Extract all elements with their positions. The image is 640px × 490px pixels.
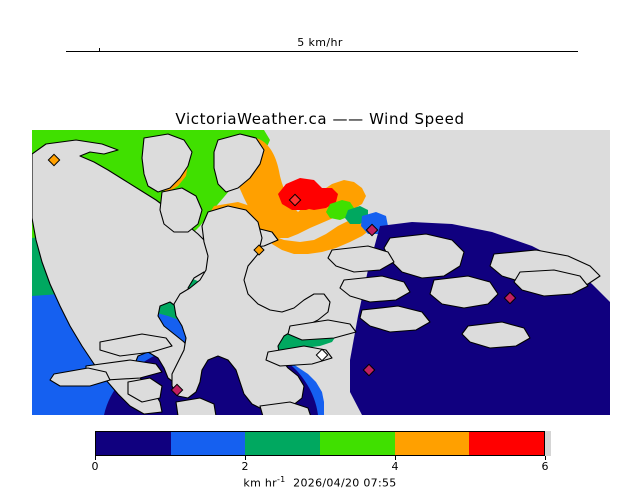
colorbar-units: km hr	[243, 477, 277, 490]
scale-bar-label: 5 km/hr	[0, 36, 640, 49]
colorbar: 0246 km hr-1 2026/04/20 07:55	[0, 425, 640, 480]
map-canvas	[32, 130, 610, 415]
scale-bar-tick	[99, 48, 100, 51]
wind-scale-bar: 5 km/hr	[0, 0, 640, 70]
colorbar-swatch-2	[245, 432, 320, 455]
colorbar-swatch-3	[320, 432, 395, 455]
colorbar-timestamp: 2026/04/20 07:55	[286, 477, 397, 490]
colorbar-swatch-5	[469, 432, 544, 455]
colorbar-swatch-4	[395, 432, 470, 455]
wind-speed-map[interactable]	[32, 130, 610, 415]
colorbar-swatches	[95, 431, 545, 456]
colorbar-swatch-1	[171, 432, 246, 455]
colorbar-ticklabel-6: 6	[530, 460, 560, 473]
page-title: VictoriaWeather.ca —— Wind Speed	[0, 110, 640, 128]
colorbar-swatch-0	[96, 432, 171, 455]
colorbar-ticklabel-2: 2	[230, 460, 260, 473]
scale-bar-line	[66, 51, 578, 52]
colorbar-ticklabel-0: 0	[80, 460, 110, 473]
colorbar-ticklabel-4: 4	[380, 460, 410, 473]
colorbar-caption: km hr-1 2026/04/20 07:55	[0, 475, 640, 490]
